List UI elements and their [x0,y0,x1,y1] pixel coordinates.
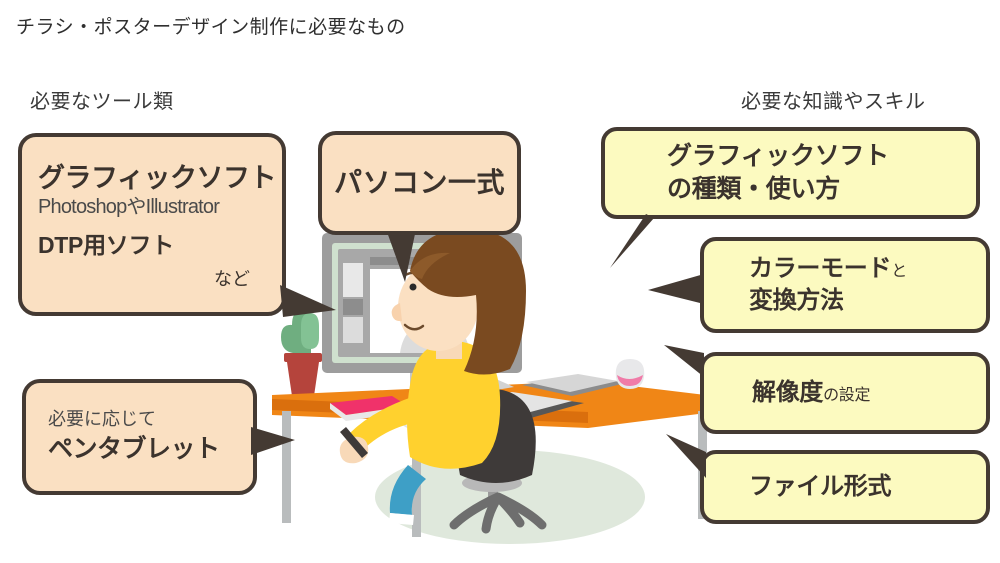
callout-resolution[interactable]: 解像度の設定 [700,352,990,434]
callout-line-tertiary: DTP用ソフト [38,232,266,259]
callout-tail-pen-tablet [251,425,299,457]
column-heading-tools: 必要なツール類 [30,85,174,114]
callout-tail-file-format [664,432,720,488]
infographic-canvas: チラシ・ポスターデザイン制作に必要なもの 必要なツール類 必要な知識やスキル [0,0,1000,563]
callout-tail-color-mode [648,272,708,308]
callout-line-primary: ファイル形式 [749,473,986,501]
callout-line-primary: ペンタブレット [48,435,253,465]
callout-line-secondary: PhotoshopやIllustrator [38,196,266,220]
callout-text-main: 解像度 [752,379,823,406]
callout-computer-set[interactable]: パソコン一式 [318,131,521,235]
column-heading-skills: 必要な知識やスキル [741,85,926,114]
callout-color-mode[interactable]: カラーモードと 変換方法 [700,237,990,333]
coffee-cup [616,359,644,389]
callout-graphics-software-knowledge[interactable]: グラフィックソフト の種類・使い方 [601,127,980,219]
callout-line-primary: グラフィックソフト [38,163,266,195]
callout-text-suffix: と [891,263,907,280]
callout-tail-graphics-software [280,283,340,323]
callout-line-primary: 解像度の設定 [752,379,986,407]
eye [410,284,417,291]
callout-file-format[interactable]: ファイル形式 [700,450,990,524]
callout-text-main: カラーモード [749,255,891,282]
callout-tail-computer-set [385,232,425,284]
callout-line-etc: など [38,269,266,290]
callout-tail-graphics-software-knowledge [608,212,664,270]
callout-line-secondary: の種類・使い方 [667,175,976,205]
callout-line-primary: カラーモードと [749,255,986,283]
callout-line-secondary: 必要に応じて [48,409,253,430]
callout-graphics-software[interactable]: グラフィックソフト PhotoshopやIllustrator DTP用ソフト … [18,133,286,316]
callout-text-suffix: の設定 [823,387,870,404]
callout-line-primary: グラフィックソフト [667,142,976,172]
callout-line-secondary: 変換方法 [749,287,986,315]
page-title: チラシ・ポスターデザイン制作に必要なもの [16,12,406,39]
callout-pen-tablet[interactable]: 必要に応じて ペンタブレット [22,379,257,495]
cactus-plant [281,311,322,396]
callout-line-primary: パソコン一式 [334,166,505,199]
callout-tail-resolution [662,343,718,391]
